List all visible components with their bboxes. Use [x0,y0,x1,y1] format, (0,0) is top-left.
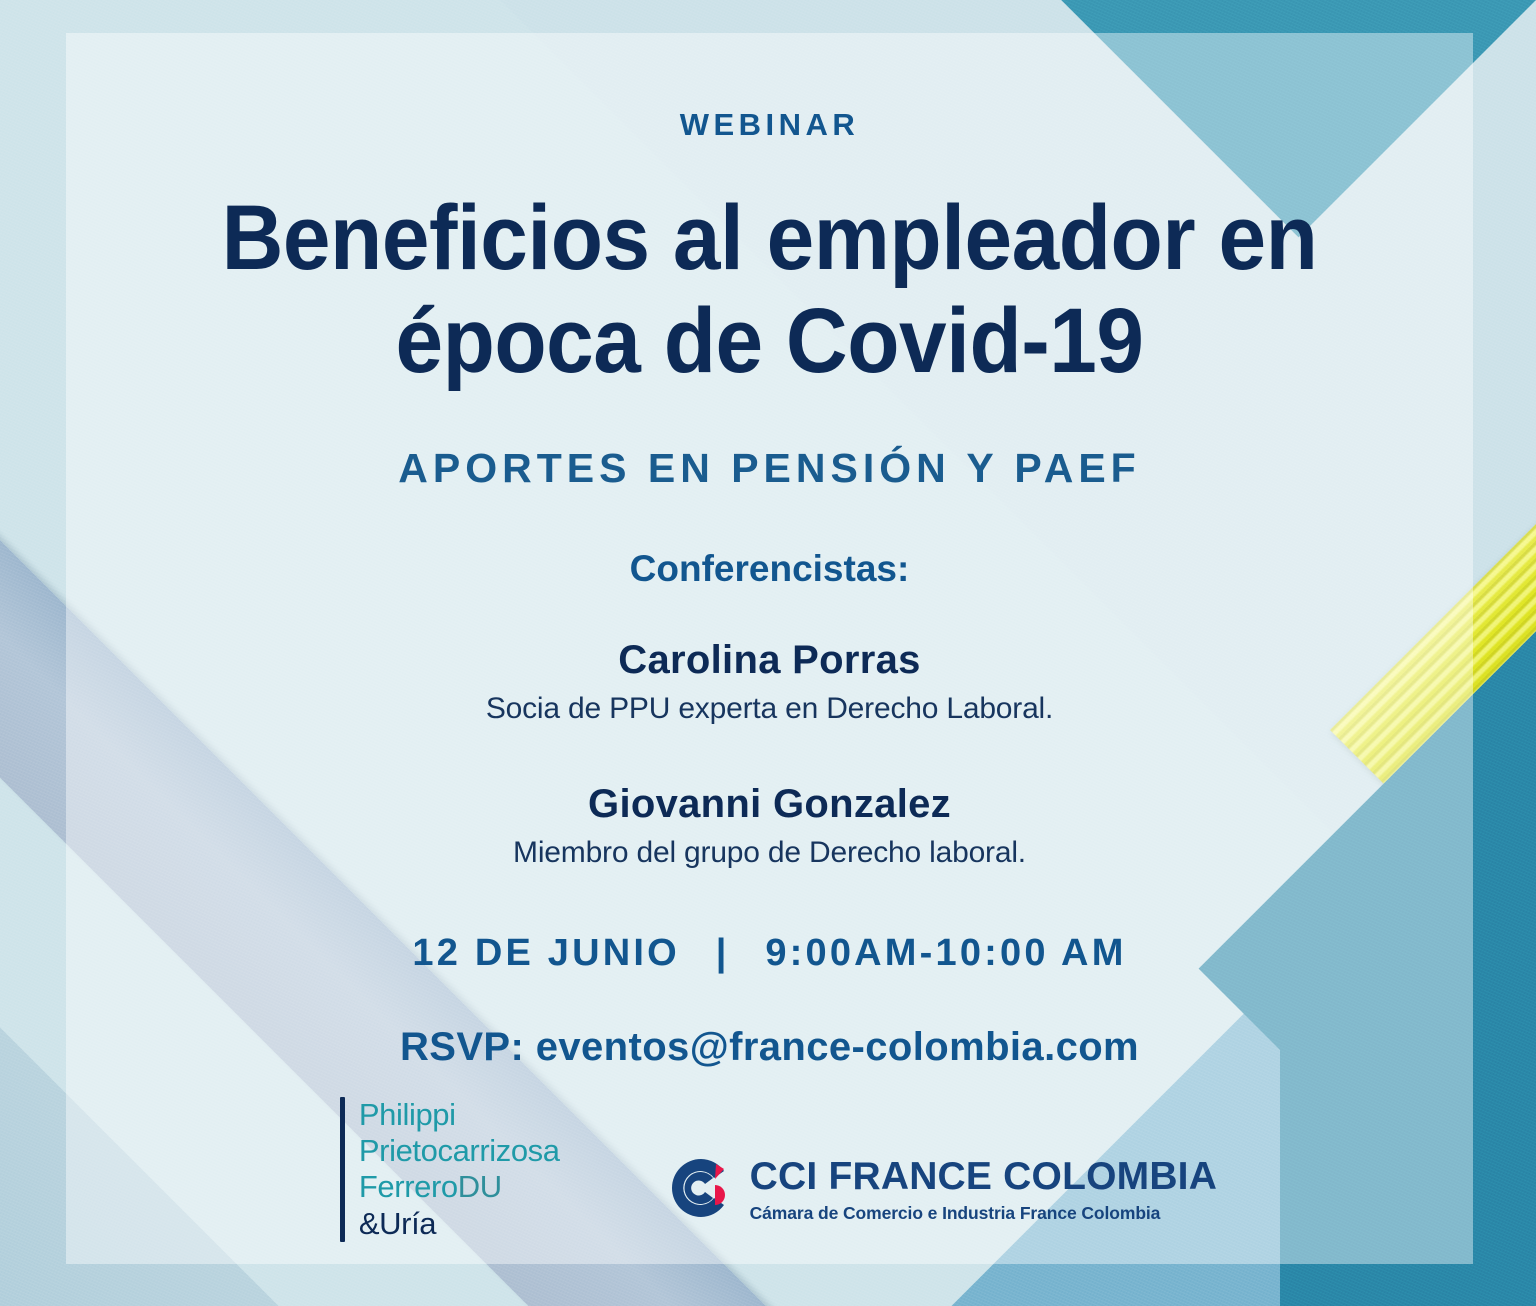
speaker-role: Socia de PPU experta en Derecho Laboral. [126,692,1413,726]
rsvp-line: RSVP: eventos@france-colombia.com [126,1025,1413,1070]
page-title: Beneficios al empleador en época de Covi… [171,187,1368,393]
speaker-entry: Giovanni Gonzalez Miembro del grupo de D… [126,782,1413,870]
datetime-separator: | [694,932,752,975]
logo-row: Philippi Prietocarrizosa FerreroDU &Uría [66,1097,1473,1242]
title-line-1: Beneficios al empleador en [222,187,1318,289]
ppu-line-4: &Uría [359,1206,560,1242]
speaker-name: Giovanni Gonzalez [126,782,1413,827]
cci-logo: CCI FRANCE COLOMBIA Cámara de Comercio e… [668,1155,1217,1242]
ppu-line-3-a: Ferrero [359,1169,458,1204]
ppu-line-1: Philippi [359,1097,560,1133]
cci-logo-subtitle: Cámara de Comercio e Industria France Co… [750,1203,1217,1224]
ppu-line-3-b: DU [458,1169,502,1204]
content-panel: WEBINAR Beneficios al empleador en época… [66,33,1473,1264]
speakers-heading: Conferencistas: [126,548,1413,590]
speaker-name: Carolina Porras [126,638,1413,683]
speaker-entry: Carolina Porras Socia de PPU experta en … [126,638,1413,726]
cci-logo-text: CCI FRANCE COLOMBIA Cámara de Comercio e… [750,1157,1217,1224]
ppu-line-2: Prietocarrizosa [359,1133,560,1169]
webinar-poster: WEBINAR Beneficios al empleador en época… [0,0,1536,1306]
cci-monogram-icon [668,1155,734,1226]
event-date: 12 DE JUNIO [412,932,680,974]
ppu-logo-bar [340,1097,345,1242]
ppu-logo: Philippi Prietocarrizosa FerreroDU &Uría [340,1097,560,1242]
ppu-line-3: FerreroDU [359,1169,560,1205]
kicker-label: WEBINAR [126,107,1413,143]
event-time: 9:00AM-10:00 AM [765,932,1126,974]
event-datetime: 12 DE JUNIO | 9:00AM-10:00 AM [126,932,1413,975]
title-line-2: época de Covid-19 [171,290,1368,393]
speaker-role: Miembro del grupo de Derecho laboral. [126,836,1413,870]
cci-logo-title: CCI FRANCE COLOMBIA [750,1157,1217,1196]
page-subtitle: APORTES EN PENSIÓN Y PAEF [126,445,1413,492]
ppu-logo-text: Philippi Prietocarrizosa FerreroDU &Uría [359,1097,560,1242]
